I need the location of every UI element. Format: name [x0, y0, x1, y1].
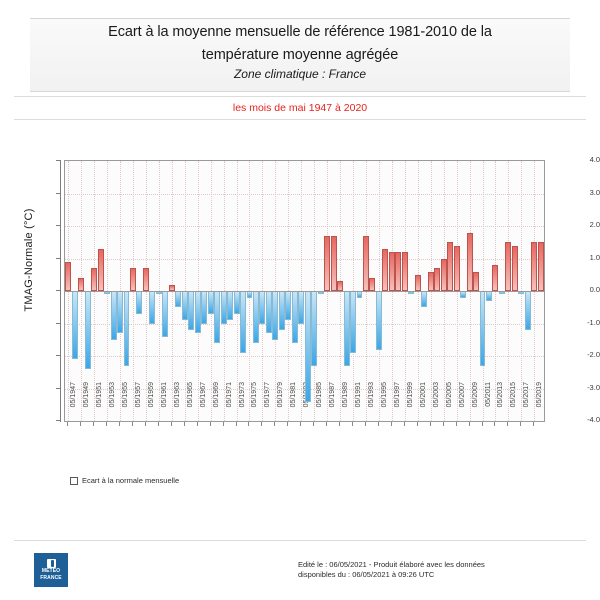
x-axis-tick-mark	[507, 422, 508, 426]
y-axis-tick-mark	[56, 323, 61, 324]
x-axis-tick-mark	[80, 422, 81, 426]
chart-legend: Ecart à la normale mensuelle	[70, 476, 179, 485]
bar	[130, 268, 136, 291]
logo-text-line2: FRANCE	[40, 576, 61, 582]
bar	[285, 291, 291, 320]
y-axis-tick-mark	[56, 355, 61, 356]
bar	[162, 291, 168, 337]
bar	[240, 291, 246, 353]
page-title-line1: Ecart à la moyenne mensuelle de référenc…	[30, 19, 570, 42]
bar	[382, 249, 388, 291]
x-axis-tick-label: 05/1991	[355, 382, 362, 428]
x-axis-tick-mark	[378, 422, 379, 426]
x-axis-tick-label: 05/1979	[277, 382, 284, 428]
x-axis-tick-label: 05/1965	[187, 382, 194, 428]
x-axis-tick-mark	[404, 422, 405, 426]
x-axis-tick-mark	[236, 422, 237, 426]
x-axis-tick-label: 05/1995	[381, 382, 388, 428]
x-axis-tick-label: 05/1973	[239, 382, 246, 428]
y-axis-tick-label: 2.0	[560, 220, 600, 229]
x-axis-tick-label: 05/1947	[70, 382, 77, 428]
y-axis-tick-mark	[56, 225, 61, 226]
x-axis-tick-mark	[261, 422, 262, 426]
page-title-line2: température moyenne agrégée	[30, 42, 570, 65]
x-axis-tick-label: 05/2007	[459, 382, 466, 428]
x-axis-tick-mark	[494, 422, 495, 426]
bar	[331, 236, 337, 291]
x-axis-tick-label: 05/2015	[510, 382, 517, 428]
y-axis-tick-mark	[56, 160, 61, 161]
x-axis-tick-mark	[158, 422, 159, 426]
bar	[298, 291, 304, 324]
x-axis-tick-label: 05/1971	[226, 382, 233, 428]
x-axis-tick-mark	[520, 422, 521, 426]
x-axis-tick-label: 05/2019	[536, 382, 543, 428]
bar	[182, 291, 188, 320]
bar	[136, 291, 142, 314]
y-axis-tick-label: -1.0	[560, 318, 600, 327]
bar	[486, 291, 492, 301]
bar	[65, 262, 71, 291]
x-axis-tick-mark	[67, 422, 68, 426]
x-axis-tick-label: 05/1949	[83, 382, 90, 428]
x-axis-tick-mark	[313, 422, 314, 426]
footer-note-line2: disponibles du : 06/05/2021 à 09:26 UTC	[298, 570, 578, 580]
bar	[512, 246, 518, 292]
x-axis-tick-mark	[248, 422, 249, 426]
bar	[473, 272, 479, 292]
bar	[188, 291, 194, 330]
bar	[350, 291, 356, 353]
x-axis-tick-mark	[184, 422, 185, 426]
bar	[234, 291, 240, 314]
x-axis-tick-label: 05/1959	[148, 382, 155, 428]
x-axis-tick-label: 05/2005	[446, 382, 453, 428]
x-axis-tick-label: 05/2003	[433, 382, 440, 428]
x-axis-tick-mark	[106, 422, 107, 426]
bar	[480, 291, 486, 366]
bar	[117, 291, 123, 333]
meteo-france-mark-icon	[47, 559, 56, 568]
footer-divider	[14, 540, 586, 541]
x-axis-tick-label: 05/1977	[264, 382, 271, 428]
chart-page: Ecart à la moyenne mensuelle de référenc…	[0, 0, 600, 600]
y-axis-tick-label: 0.0	[560, 285, 600, 294]
x-axis-tick-mark	[456, 422, 457, 426]
bar	[538, 242, 544, 291]
bar	[259, 291, 265, 324]
zero-baseline	[65, 291, 544, 292]
bar	[214, 291, 220, 343]
x-axis-tick-mark	[171, 422, 172, 426]
bar	[143, 268, 149, 291]
x-axis-tick-mark	[391, 422, 392, 426]
bar	[98, 249, 104, 291]
bar	[395, 252, 401, 291]
x-axis-tick-mark	[417, 422, 418, 426]
bar	[201, 291, 207, 324]
bar	[292, 291, 298, 343]
x-axis-tick-mark	[482, 422, 483, 426]
bar	[434, 268, 440, 291]
x-axis-tick-label: 05/1999	[407, 382, 414, 428]
bar	[279, 291, 285, 330]
x-axis-tick-label: 05/1969	[213, 382, 220, 428]
x-axis-tick-mark	[365, 422, 366, 426]
x-axis-tick-mark	[533, 422, 534, 426]
climate-zone-label: Zone climatique : France	[30, 65, 570, 83]
x-axis-tick-mark	[223, 422, 224, 426]
legend-swatch-icon	[70, 477, 78, 485]
y-axis-line	[60, 160, 61, 422]
bar	[266, 291, 272, 333]
bar	[441, 259, 447, 292]
x-axis-tick-mark	[210, 422, 211, 426]
x-axis-tick-label: 05/1963	[174, 382, 181, 428]
y-axis-tick-label: -2.0	[560, 350, 600, 359]
bar	[78, 278, 84, 291]
x-axis-tick-mark	[197, 422, 198, 426]
bar	[428, 272, 434, 292]
x-axis-tick-mark	[326, 422, 327, 426]
bar	[324, 236, 330, 291]
x-axis-tick-label: 05/1967	[200, 382, 207, 428]
bar	[272, 291, 278, 340]
bar	[467, 233, 473, 292]
x-axis-tick-mark	[274, 422, 275, 426]
x-axis-tick-label: 05/1961	[161, 382, 168, 428]
bar	[221, 291, 227, 324]
bar	[72, 291, 78, 359]
y-axis-tick-label: 1.0	[560, 253, 600, 262]
x-axis-tick-label: 05/1953	[109, 382, 116, 428]
bar	[195, 291, 201, 333]
x-axis-tick-mark	[443, 422, 444, 426]
y-axis-tick-label: -3.0	[560, 383, 600, 392]
footer-note-line1: Edité le : 06/05/2021 - Produit élaboré …	[298, 560, 578, 570]
bar	[227, 291, 233, 320]
x-axis-tick-label: 05/1951	[96, 382, 103, 428]
bar	[344, 291, 350, 366]
gridline-horizontal	[65, 226, 544, 227]
x-axis-tick-mark	[145, 422, 146, 426]
y-axis-tick-mark	[56, 420, 61, 421]
bar	[454, 246, 460, 292]
chart-header: Ecart à la moyenne mensuelle de référenc…	[30, 18, 570, 92]
bar	[402, 252, 408, 291]
x-axis-tick-label: 05/1985	[316, 382, 323, 428]
bar	[124, 291, 130, 366]
x-axis-tick-label: 05/2001	[420, 382, 427, 428]
chart-subtitle: les mois de mai 1947 à 2020	[14, 97, 586, 119]
bar	[531, 242, 537, 291]
x-axis-tick-label: 05/1955	[122, 382, 129, 428]
bar	[305, 291, 311, 402]
legend-label: Ecart à la normale mensuelle	[82, 476, 179, 485]
bar	[149, 291, 155, 324]
bar	[91, 268, 97, 291]
bar	[505, 242, 511, 291]
bar	[492, 265, 498, 291]
y-axis-tick-mark	[56, 388, 61, 389]
y-axis-title: TMAG-Normale (°C)	[23, 145, 35, 375]
footer-note: Edité le : 06/05/2021 - Produit élaboré …	[298, 560, 578, 580]
bar	[253, 291, 259, 343]
bar	[337, 281, 343, 291]
x-axis-tick-label: 05/2017	[523, 382, 530, 428]
bar	[421, 291, 427, 307]
bar	[311, 291, 317, 366]
x-axis-tick-mark	[339, 422, 340, 426]
y-axis-tick-mark	[56, 258, 61, 259]
x-axis-tick-mark	[93, 422, 94, 426]
x-axis-tick-label: 05/2009	[472, 382, 479, 428]
y-axis-tick-label: 4.0	[560, 155, 600, 164]
y-axis-tick-label: 3.0	[560, 188, 600, 197]
x-axis-tick-label: 05/2013	[497, 382, 504, 428]
y-axis-tick-label: -4.0	[560, 415, 600, 424]
bar	[389, 252, 395, 291]
meteo-france-logo: METEO FRANCE	[34, 553, 68, 587]
bar	[175, 291, 181, 307]
bar	[447, 242, 453, 291]
x-axis-tick-label: 05/1997	[394, 382, 401, 428]
logo-text-line1: METEO	[42, 569, 60, 575]
bar	[208, 291, 214, 314]
y-axis-tick-mark	[56, 290, 61, 291]
x-axis-tick-label: 05/1981	[290, 382, 297, 428]
x-axis-tick-label: 05/1989	[342, 382, 349, 428]
x-axis-tick-label: 05/1987	[329, 382, 336, 428]
x-axis-tick-mark	[469, 422, 470, 426]
bar	[376, 291, 382, 350]
x-axis-tick-mark	[132, 422, 133, 426]
bar	[369, 278, 375, 291]
x-axis-tick-mark	[352, 422, 353, 426]
bar	[85, 291, 91, 369]
gridline-horizontal	[65, 194, 544, 195]
y-axis-tick-mark	[56, 193, 61, 194]
subtitle-band: les mois de mai 1947 à 2020	[14, 96, 586, 120]
x-axis-tick-mark	[430, 422, 431, 426]
chart-area: TMAG-Normale (°C) 4.03.02.01.00.0-1.0-2.…	[0, 150, 600, 480]
x-axis-tick-label: 05/1975	[251, 382, 258, 428]
x-axis-tick-label: 05/1993	[368, 382, 375, 428]
bar	[111, 291, 117, 340]
x-axis-tick-mark	[119, 422, 120, 426]
bar	[525, 291, 531, 330]
bar	[415, 275, 421, 291]
x-axis-tick-mark	[300, 422, 301, 426]
x-axis-tick-label: 05/1957	[135, 382, 142, 428]
x-axis-tick-label: 05/2011	[485, 382, 492, 428]
bar	[363, 236, 369, 291]
x-axis-tick-mark	[287, 422, 288, 426]
